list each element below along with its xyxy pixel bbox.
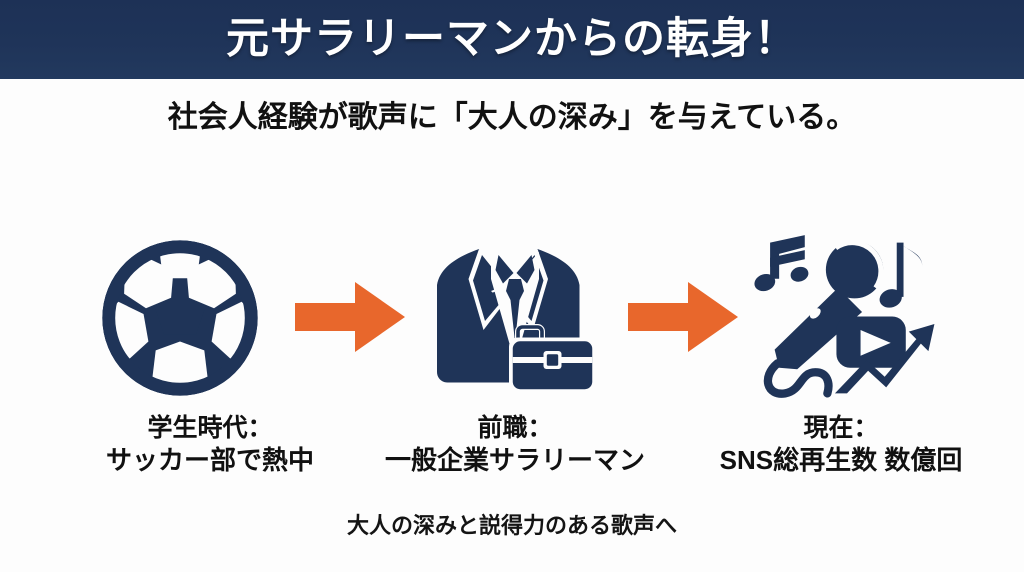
- caption-step-2: 前職： 一般企業サラリーマン: [345, 412, 685, 477]
- caption-step-3: 現在： SNS総再生数 数億回: [676, 412, 1006, 477]
- caption-2-line-1: 前職：: [345, 412, 685, 444]
- flow-diagram: [0, 225, 1024, 410]
- header-band: 元サラリーマンからの転身！: [0, 0, 1024, 79]
- right-arrow-icon: [295, 277, 405, 357]
- flow-step-1: [60, 225, 300, 410]
- microphone-music-play-trend-icon: [752, 233, 948, 403]
- soccer-ball-icon: [99, 237, 261, 399]
- caption-3-line-2: SNS総再生数 数億回: [676, 444, 1006, 477]
- business-suit-briefcase-icon: [425, 233, 605, 403]
- flow-step-2: [395, 225, 635, 410]
- flow-arrow-1: [295, 277, 405, 357]
- flow-step-3: [730, 225, 970, 410]
- flow-arrow-2: [628, 277, 738, 357]
- caption-2-line-2: 一般企業サラリーマン: [345, 444, 685, 477]
- subtitle-text: 社会人経験が歌声に「大人の深み」を与えている。: [0, 101, 1024, 134]
- right-arrow-icon: [628, 277, 738, 357]
- caption-1-line-2: サッカー部で熱中: [40, 444, 380, 477]
- caption-3-line-1: 現在：: [676, 412, 1006, 444]
- caption-1-line-1: 学生時代：: [40, 412, 380, 444]
- page-title: 元サラリーマンからの転身！: [226, 18, 798, 61]
- footer-note: 大人の深みと説得力のある歌声へ: [0, 508, 1024, 540]
- caption-step-1: 学生時代： サッカー部で熱中: [40, 412, 380, 477]
- caption-row: 学生時代： サッカー部で熱中 前職： 一般企業サラリーマン 現在： SNS総再生…: [0, 412, 1024, 492]
